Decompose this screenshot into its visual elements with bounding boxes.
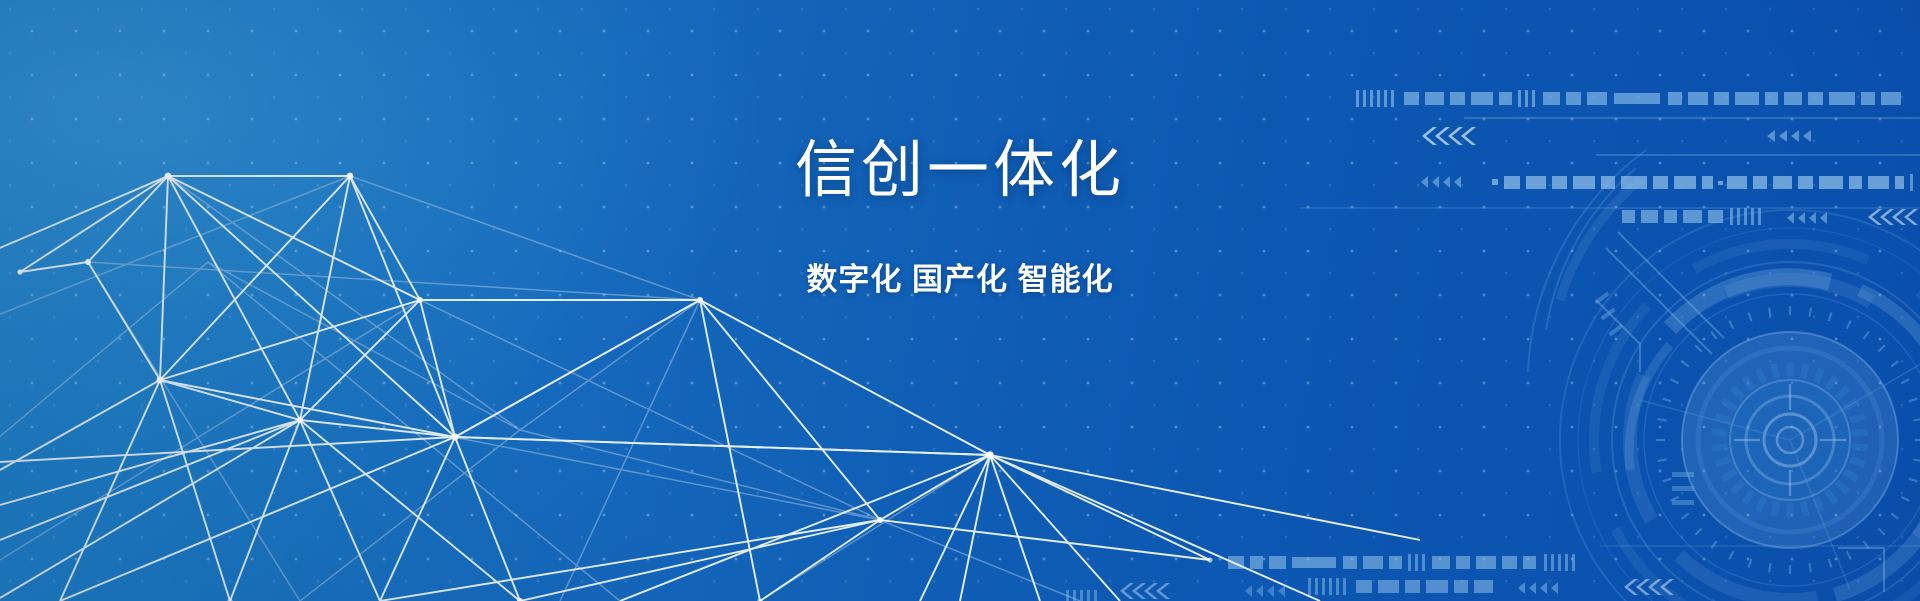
dot-grid-pattern xyxy=(0,0,1920,601)
page-title: 信创一体化 xyxy=(795,140,1125,202)
tech-dash-bar-rows xyxy=(0,0,1920,601)
circular-radar-hud xyxy=(0,0,1920,601)
dot-grid-pattern-secondary xyxy=(0,0,1920,601)
polygon-network-mesh xyxy=(0,0,1920,601)
hero-banner: 信创一体化 数字化 国产化 智能化 xyxy=(0,0,1920,601)
banner-subtitle: 数字化 国产化 智能化 xyxy=(806,264,1113,295)
background-glow xyxy=(0,0,1920,601)
banner-text-block: 信创一体化 数字化 国产化 智能化 xyxy=(0,0,1920,601)
background-vignette xyxy=(0,0,1920,601)
